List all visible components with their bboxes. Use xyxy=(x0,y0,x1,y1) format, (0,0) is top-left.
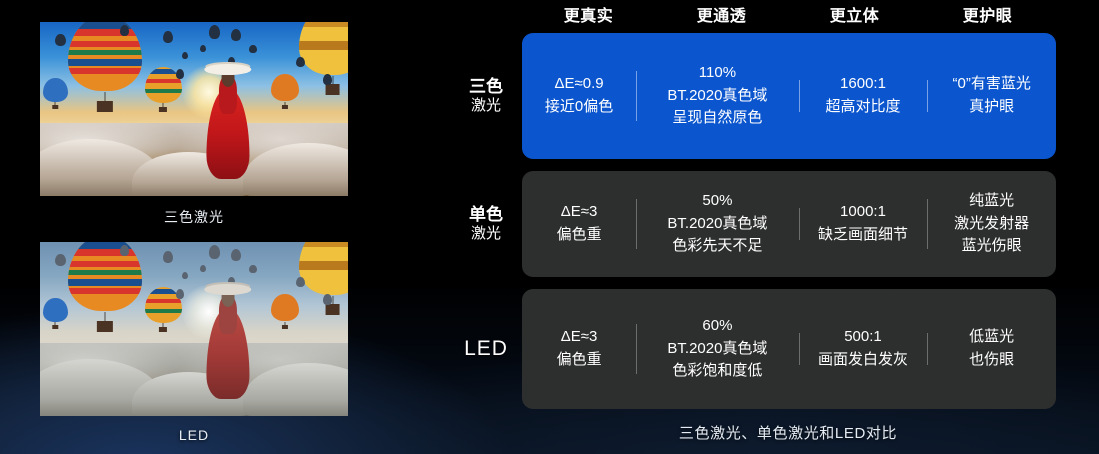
slide-canvas: 三色激光 xyxy=(0,0,1099,454)
balloon-silhouette xyxy=(176,69,184,79)
balloon-large-right xyxy=(299,242,348,315)
cell-line: 接近0偏色 xyxy=(526,96,632,119)
cell-line: 1000:1 xyxy=(803,201,924,224)
balloon-small-left xyxy=(43,78,68,109)
cell-line: 真护眼 xyxy=(931,96,1052,119)
balloon-large-left xyxy=(68,242,142,332)
balloon-silhouette xyxy=(120,245,129,255)
balloon-large-right xyxy=(299,22,348,95)
cell-line: 110% xyxy=(640,62,794,85)
balloon-silhouette xyxy=(120,25,129,35)
photo-block-tricolor-laser: 三色激光 xyxy=(40,22,348,227)
cell-eye-friendly: “0”有害蓝光 真护眼 xyxy=(927,73,1056,119)
cell-line: ΔE≈3 xyxy=(526,326,632,349)
cell-line: 蓝光伤眼 xyxy=(931,235,1052,258)
photo-comparison-column: 三色激光 xyxy=(0,0,400,454)
column-header-more-transparent: 更通透 xyxy=(655,2,788,28)
cell-line: 500:1 xyxy=(803,326,924,349)
cell-transparent: 110% BT.2020真色域 呈现自然原色 xyxy=(636,62,798,130)
cell-line: 呈现自然原色 xyxy=(640,107,794,130)
balloon-silhouette xyxy=(200,265,206,272)
balloon-small-right xyxy=(271,294,299,329)
table-row-tricolor-laser: 三色 激光 ΔE≈0.9 接近0偏色 110% BT.2020真色域 呈现自然原… xyxy=(450,33,1056,159)
cell-line: 色彩饱和度低 xyxy=(640,360,794,383)
balloon-silhouette xyxy=(209,245,220,258)
balloon-large-left xyxy=(68,22,142,112)
balloon-silhouette xyxy=(296,277,305,287)
cell-line: 也伤眼 xyxy=(931,349,1052,372)
cell-line: 激光发射器 xyxy=(931,213,1052,236)
cell-line: BT.2020真色域 xyxy=(640,213,794,236)
balloon-silhouette xyxy=(163,251,173,263)
cell-transparent: 60% BT.2020真色域 色彩饱和度低 xyxy=(636,315,798,383)
woman-in-red-dress xyxy=(206,64,249,179)
row-label-line1: 三色 xyxy=(450,76,522,97)
balloon-silhouette xyxy=(176,289,184,299)
balloon-silhouette xyxy=(231,29,241,41)
cell-dimensional: 500:1 画面发白发灰 xyxy=(799,326,928,372)
row-card-led[interactable]: ΔE≈3 偏色重 60% BT.2020真色域 色彩饱和度低 500:1 画面发… xyxy=(522,289,1056,409)
balloon-silhouette xyxy=(323,294,332,304)
cell-realistic: ΔE≈3 偏色重 xyxy=(522,326,636,372)
cell-eye-friendly: 低蓝光 也伤眼 xyxy=(927,326,1056,372)
cell-line: BT.2020真色域 xyxy=(640,338,794,361)
cell-line: “0”有害蓝光 xyxy=(931,73,1052,96)
balloon-silhouette xyxy=(209,25,220,38)
cell-dimensional: 1600:1 超高对比度 xyxy=(799,73,928,119)
table-row-led: LED ΔE≈3 偏色重 60% BT.2020真色域 色彩饱和度低 500:1… xyxy=(450,289,1056,409)
cell-realistic: ΔE≈3 偏色重 xyxy=(522,201,636,247)
row-label-monochrome-laser: 单色 激光 xyxy=(450,204,522,244)
balloon-silhouette xyxy=(200,45,206,52)
cell-line: 50% xyxy=(640,190,794,213)
cell-realistic: ΔE≈0.9 接近0偏色 xyxy=(522,73,636,119)
row-label-led: LED xyxy=(450,336,522,362)
balloon-silhouette xyxy=(323,74,332,84)
cell-line: 偏色重 xyxy=(526,349,632,372)
photo-caption-led: LED xyxy=(40,427,348,443)
row-card-monochrome-laser[interactable]: ΔE≈3 偏色重 50% BT.2020真色域 色彩先天不足 1000:1 缺乏… xyxy=(522,171,1056,277)
column-header-more-eye-friendly: 更护眼 xyxy=(921,2,1054,28)
table-row-monochrome-laser: 单色 激光 ΔE≈3 偏色重 50% BT.2020真色域 色彩先天不足 100… xyxy=(450,171,1056,277)
balloon-silhouette xyxy=(296,57,305,67)
cell-line: BT.2020真色域 xyxy=(640,85,794,108)
table-column-headers: 更真实 更通透 更立体 更护眼 xyxy=(522,2,1054,28)
row-label-line2: 激光 xyxy=(450,225,522,244)
balloon-silhouette xyxy=(55,34,66,46)
cell-line: 缺乏画面细节 xyxy=(803,224,924,247)
row-label-line1: 单色 xyxy=(450,204,522,225)
balloon-small-right xyxy=(271,74,299,109)
ground-layer xyxy=(40,343,348,416)
photo-caption-tricolor-laser: 三色激光 xyxy=(40,207,348,227)
cell-line: 低蓝光 xyxy=(931,326,1052,349)
photo-tricolor-laser xyxy=(40,22,348,196)
row-card-tricolor-laser[interactable]: ΔE≈0.9 接近0偏色 110% BT.2020真色域 呈现自然原色 1600… xyxy=(522,33,1056,159)
column-header-more-dimensional: 更立体 xyxy=(788,2,921,28)
row-label-line1: LED xyxy=(450,336,522,362)
cell-transparent: 50% BT.2020真色域 色彩先天不足 xyxy=(636,190,798,258)
cell-line: ΔE≈3 xyxy=(526,201,632,224)
table-caption: 三色激光、单色激光和LED对比 xyxy=(522,422,1054,443)
comparison-table: 更真实 更通透 更立体 更护眼 三色 激光 ΔE≈0.9 接近0偏色 110% … xyxy=(450,0,1099,454)
cell-dimensional: 1000:1 缺乏画面细节 xyxy=(799,201,928,247)
cell-line: ΔE≈0.9 xyxy=(526,73,632,96)
column-header-more-realistic: 更真实 xyxy=(522,2,655,28)
rock-formation xyxy=(243,143,348,196)
balloon-silhouette xyxy=(163,31,173,43)
cell-line: 色彩先天不足 xyxy=(640,235,794,258)
cell-line: 纯蓝光 xyxy=(931,190,1052,213)
balloon-silhouette xyxy=(231,249,241,261)
cell-line: 超高对比度 xyxy=(803,96,924,119)
cell-eye-friendly: 纯蓝光 激光发射器 蓝光伤眼 xyxy=(927,190,1056,258)
photo-block-led: LED xyxy=(40,242,348,443)
photo-led xyxy=(40,242,348,416)
ground-layer xyxy=(40,123,348,196)
row-label-line2: 激光 xyxy=(450,97,522,116)
balloon-small-left xyxy=(43,298,68,329)
cell-line: 1600:1 xyxy=(803,73,924,96)
row-label-tricolor-laser: 三色 激光 xyxy=(450,76,522,116)
cell-line: 偏色重 xyxy=(526,224,632,247)
cell-line: 60% xyxy=(640,315,794,338)
rock-formation xyxy=(243,363,348,416)
balloon-silhouette xyxy=(55,254,66,266)
woman-in-red-dress xyxy=(206,284,249,399)
cell-line: 画面发白发灰 xyxy=(803,349,924,372)
